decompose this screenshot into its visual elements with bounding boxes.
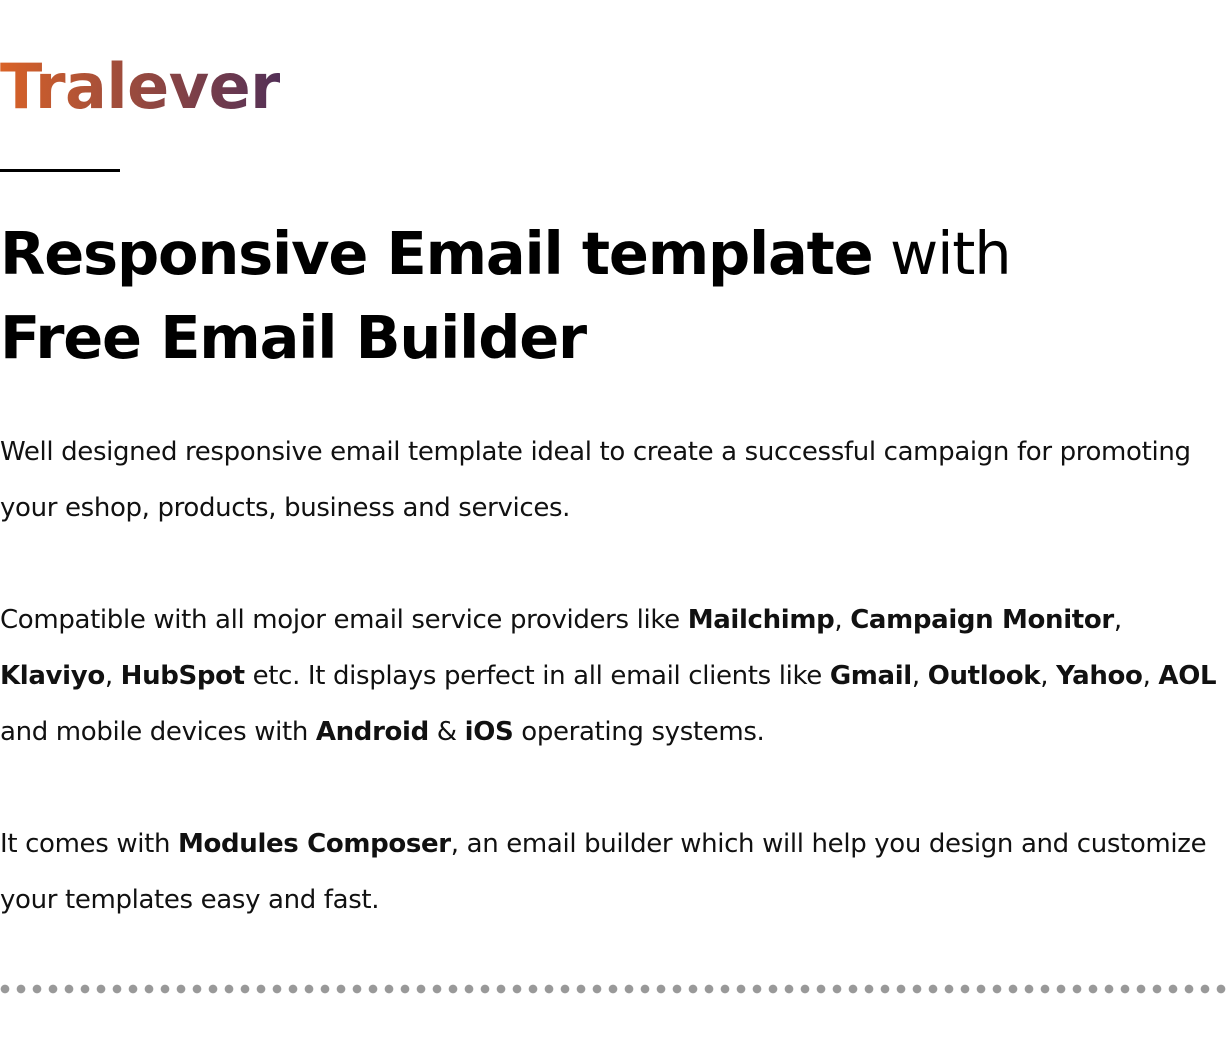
brand-outlook: Outlook — [928, 661, 1041, 691]
brand-mailchimp: Mailchimp — [688, 605, 835, 635]
paragraph-intro: Well designed responsive email template … — [0, 424, 1232, 536]
text-run: , — [105, 661, 121, 691]
page-title-bold-part: Responsive Email template — [0, 219, 872, 288]
page-title-line-two: Free Email Builder — [0, 303, 586, 372]
text-run: , — [912, 661, 928, 691]
text-run: , — [1040, 661, 1056, 691]
text-run: & — [429, 717, 465, 747]
brand-gmail: Gmail — [830, 661, 912, 691]
brand-yahoo: Yahoo — [1056, 661, 1142, 691]
title-rule-divider — [0, 169, 120, 172]
dotted-section-divider — [0, 984, 1226, 994]
brand-logo: Tralever — [0, 56, 280, 118]
page-title-normal-part: with — [872, 219, 1010, 288]
text-run: , — [1143, 661, 1159, 691]
brand-aol: AOL — [1158, 661, 1216, 691]
brand-campaign-monitor: Campaign Monitor — [850, 605, 1114, 635]
text-run: etc. It displays perfect in all email cl… — [245, 661, 830, 691]
text-run: operating systems. — [513, 717, 764, 747]
text-run: and mobile devices with — [0, 717, 316, 747]
brand-hubspot: HubSpot — [121, 661, 245, 691]
platform-ios: iOS — [465, 717, 514, 747]
product-modules-composer: Modules Composer — [178, 829, 451, 859]
text-run: , — [834, 605, 850, 635]
text-run: , — [1114, 605, 1122, 635]
platform-android: Android — [316, 717, 429, 747]
description-body: Well designed responsive email template … — [0, 424, 1232, 928]
brand-logo-text: Tralever — [0, 56, 280, 118]
email-template-page: Tralever Responsive Email template withF… — [0, 0, 1232, 1060]
text-run: Compatible with all mojor email service … — [0, 605, 688, 635]
text-run: It comes with — [0, 829, 178, 859]
brand-klaviyo: Klaviyo — [0, 661, 105, 691]
paragraph-compatibility: Compatible with all mojor email service … — [0, 592, 1232, 760]
paragraph-builder: It comes with Modules Composer, an email… — [0, 816, 1232, 928]
page-title: Responsive Email template withFree Email… — [0, 212, 1232, 380]
